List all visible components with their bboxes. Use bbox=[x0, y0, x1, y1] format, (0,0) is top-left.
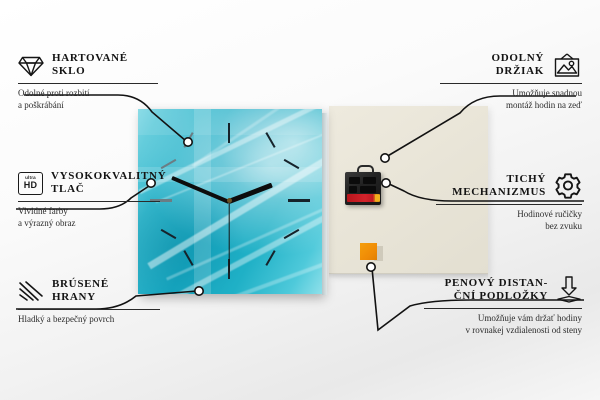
feature-title: TICHÝ MECHANIZMUS bbox=[452, 173, 546, 199]
wall-clock bbox=[138, 109, 322, 294]
feature-title-line2: TLAČ bbox=[51, 183, 166, 196]
feature-description: Vividné farby a výrazný obraz bbox=[18, 206, 160, 229]
feature-header: ultra HD VYSOKOKVALITNÝ TLAČ bbox=[18, 170, 160, 196]
feature-durable-mount: ODOLNÝ DRŽIAK Umožňuje snadnou montáž ho… bbox=[440, 52, 582, 111]
divider bbox=[440, 83, 582, 84]
feature-description: Odolné proti rozbití a poškrábání bbox=[18, 88, 158, 111]
mechanism-slot bbox=[363, 177, 376, 184]
feature-desc-line2: montáž hodin na zeď bbox=[440, 100, 582, 112]
feature-header: PENOVÝ DISTAN- ČNÍ PODLOŽKY bbox=[424, 276, 582, 303]
feature-desc-line1: Hladký a bezpečný povrch bbox=[18, 314, 160, 326]
gear-icon bbox=[554, 172, 582, 199]
battery-terminal bbox=[375, 195, 380, 201]
mechanism-slot bbox=[360, 186, 376, 193]
feature-title-line1: BRÚSENÉ bbox=[52, 278, 109, 291]
feature-title-line1: ODOLNÝ bbox=[492, 52, 544, 65]
feature-title-line1: PENOVÝ DISTAN- bbox=[445, 277, 548, 290]
feature-header: HARTOVANÉ SKLO bbox=[18, 52, 158, 78]
ultra-hd-icon: ultra HD bbox=[18, 172, 43, 195]
diamond-icon bbox=[18, 53, 44, 77]
feature-title-line2: MECHANIZMUS bbox=[452, 186, 546, 199]
feature-hd-print: ultra HD VYSOKOKVALITNÝ TLAČ Vividné far… bbox=[18, 170, 160, 229]
feature-desc-line2: bez zvuku bbox=[436, 221, 582, 233]
divider bbox=[436, 204, 582, 205]
product-infographic: HARTOVANÉ SKLO Odolné proti rozbití a po… bbox=[0, 0, 600, 400]
feature-title: HARTOVANÉ SKLO bbox=[52, 52, 128, 78]
feature-desc-line2: v rovnakej vzdialenosti od steny bbox=[424, 325, 582, 337]
feature-desc-line1: Odolné proti rozbití bbox=[18, 88, 158, 100]
feature-title: ODOLNÝ DRŽIAK bbox=[492, 52, 544, 78]
feature-title-line2: DRŽIAK bbox=[492, 65, 544, 78]
feature-desc-line2: a výrazný obraz bbox=[18, 218, 160, 230]
beveled-edges-icon bbox=[18, 280, 44, 302]
feature-header: TICHÝ MECHANIZMUS bbox=[436, 172, 582, 199]
feature-desc-line1: Umožňuje vám držať hodiny bbox=[424, 313, 582, 325]
feature-foam-spacers: PENOVÝ DISTAN- ČNÍ PODLOŽKY Umožňuje vám… bbox=[424, 276, 582, 336]
feature-desc-line1: Vividné farby bbox=[18, 206, 160, 218]
feature-desc-line2: a poškrábání bbox=[18, 100, 158, 112]
feature-title: BRÚSENÉ HRANY bbox=[52, 278, 109, 304]
feature-title-line1: TICHÝ bbox=[452, 173, 546, 186]
feature-beveled-edges: BRÚSENÉ HRANY Hladký a bezpečný povrch bbox=[18, 278, 160, 326]
feature-silent-mechanism: TICHÝ MECHANIZMUS Hodinové ručičky bez z… bbox=[436, 172, 582, 232]
feature-desc-line1: Hodinové ručičky bbox=[436, 209, 582, 221]
feature-description: Hodinové ručičky bez zvuku bbox=[436, 209, 582, 232]
feature-description: Hladký a bezpečný povrch bbox=[18, 314, 160, 326]
divider bbox=[18, 309, 160, 310]
clock-tick-3 bbox=[288, 199, 310, 202]
down-arrow-pad-icon bbox=[556, 276, 582, 303]
feature-title-line1: VYSOKOKVALITNÝ bbox=[51, 170, 166, 183]
ultra-hd-icon-main-text: HD bbox=[24, 181, 38, 190]
clock-second-hand bbox=[228, 201, 229, 273]
clock-glass-edge bbox=[322, 113, 327, 295]
clock-tick-12 bbox=[228, 123, 230, 143]
feature-description: Umožňuje snadnou montáž hodin na zeď bbox=[440, 88, 582, 111]
divider bbox=[18, 201, 160, 202]
feature-title-line2: HRANY bbox=[52, 291, 109, 304]
mechanism-slot bbox=[349, 177, 360, 184]
feature-desc-line1: Umožňuje snadnou bbox=[440, 88, 582, 100]
feature-title-line2: SKLO bbox=[52, 65, 128, 78]
foam-spacer-pad bbox=[360, 243, 377, 260]
feature-title: VYSOKOKVALITNÝ TLAČ bbox=[51, 170, 166, 196]
feature-title: PENOVÝ DISTAN- ČNÍ PODLOŽKY bbox=[445, 277, 548, 303]
mechanism-slot bbox=[349, 186, 357, 193]
feature-header: BRÚSENÉ HRANY bbox=[18, 278, 160, 304]
glass-reflection-vertical bbox=[194, 109, 211, 294]
feature-title-line2: ČNÍ PODLOŽKY bbox=[445, 290, 548, 303]
divider bbox=[18, 83, 158, 84]
glass-reflection-top bbox=[138, 109, 322, 135]
clock-center-pivot bbox=[227, 198, 232, 203]
feature-header: ODOLNÝ DRŽIAK bbox=[440, 52, 582, 78]
wall-mount-frame-icon bbox=[552, 53, 582, 78]
feature-tempered-glass: HARTOVANÉ SKLO Odolné proti rozbití a po… bbox=[18, 52, 158, 111]
feature-title-line1: HARTOVANÉ bbox=[52, 52, 128, 65]
divider bbox=[424, 308, 582, 309]
feature-description: Umožňuje vám držať hodiny v rovnakej vzd… bbox=[424, 313, 582, 336]
